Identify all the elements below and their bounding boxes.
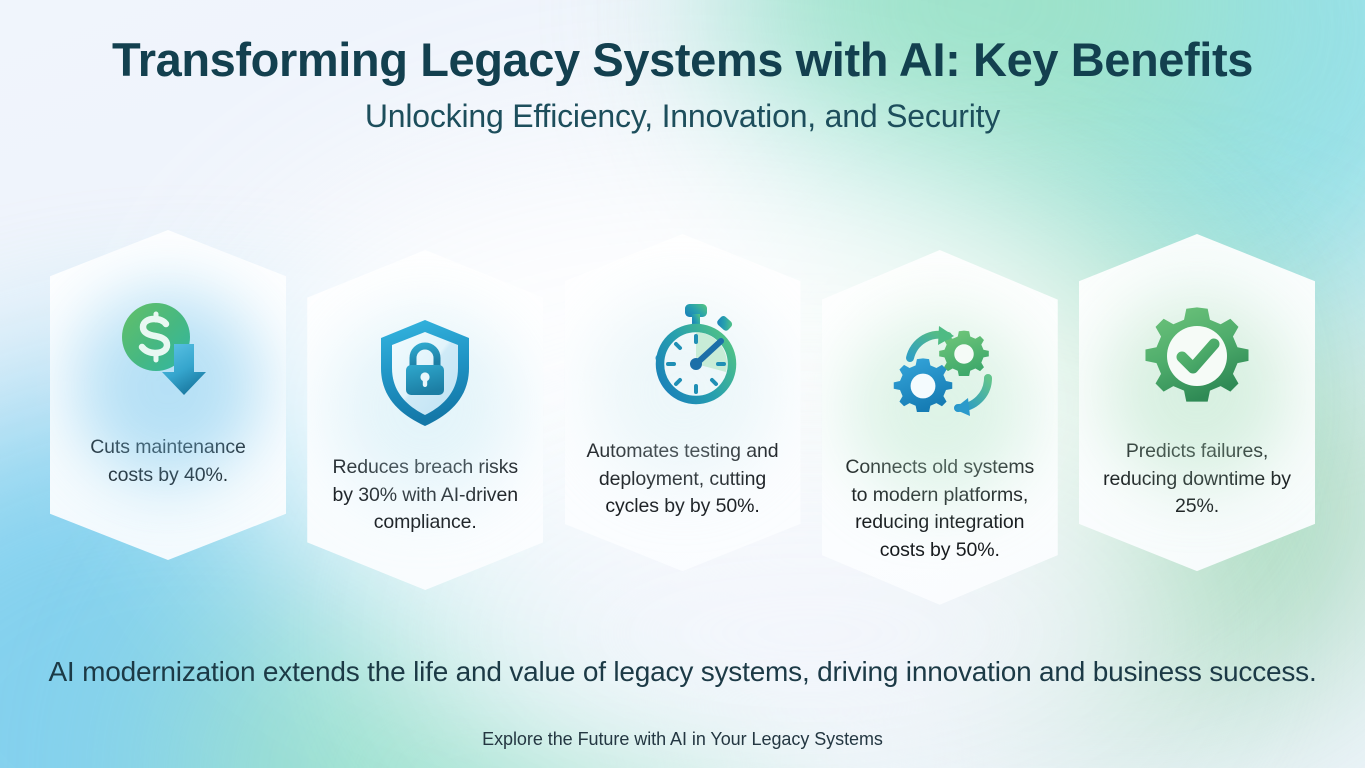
gear-check-icon bbox=[1137, 296, 1257, 416]
cta-text: Explore the Future with AI in Your Legac… bbox=[0, 729, 1365, 750]
infographic-canvas: Transforming Legacy Systems with AI: Key… bbox=[0, 0, 1365, 768]
header: Transforming Legacy Systems with AI: Key… bbox=[0, 34, 1365, 135]
stopwatch-speed-icon bbox=[623, 296, 743, 416]
summary-text: AI modernization extends the life and va… bbox=[0, 654, 1365, 689]
benefit-card-3[interactable]: Automates testing and deployment, cuttin… bbox=[565, 234, 801, 571]
benefit-text: Cuts maintenance costs by 40%. bbox=[66, 434, 270, 489]
benefit-text: Connects old systems to modern platforms… bbox=[838, 454, 1042, 565]
page-title: Transforming Legacy Systems with AI: Key… bbox=[0, 34, 1365, 87]
two-gears-cycle-icon bbox=[880, 312, 1000, 432]
benefit-card-2[interactable]: Reduces breach risks by 30% with AI-driv… bbox=[307, 250, 543, 590]
benefit-text: Reduces breach risks by 30% with AI-driv… bbox=[323, 454, 527, 537]
shield-lock-icon bbox=[365, 312, 485, 432]
benefit-card-4[interactable]: Connects old systems to modern platforms… bbox=[822, 250, 1058, 605]
benefit-card-row: Cuts maintenance costs by 40%. bbox=[50, 196, 1315, 605]
footer: AI modernization extends the life and va… bbox=[0, 654, 1365, 750]
benefit-card-5[interactable]: Predicts failures, reducing downtime by … bbox=[1079, 234, 1315, 571]
benefit-card-1[interactable]: Cuts maintenance costs by 40%. bbox=[50, 230, 286, 560]
dollar-coin-down-arrow-icon bbox=[108, 292, 228, 412]
benefit-text: Predicts failures, reducing downtime by … bbox=[1095, 438, 1299, 521]
benefit-text: Automates testing and deployment, cuttin… bbox=[581, 438, 785, 521]
page-subtitle: Unlocking Efficiency, Innovation, and Se… bbox=[0, 97, 1365, 135]
